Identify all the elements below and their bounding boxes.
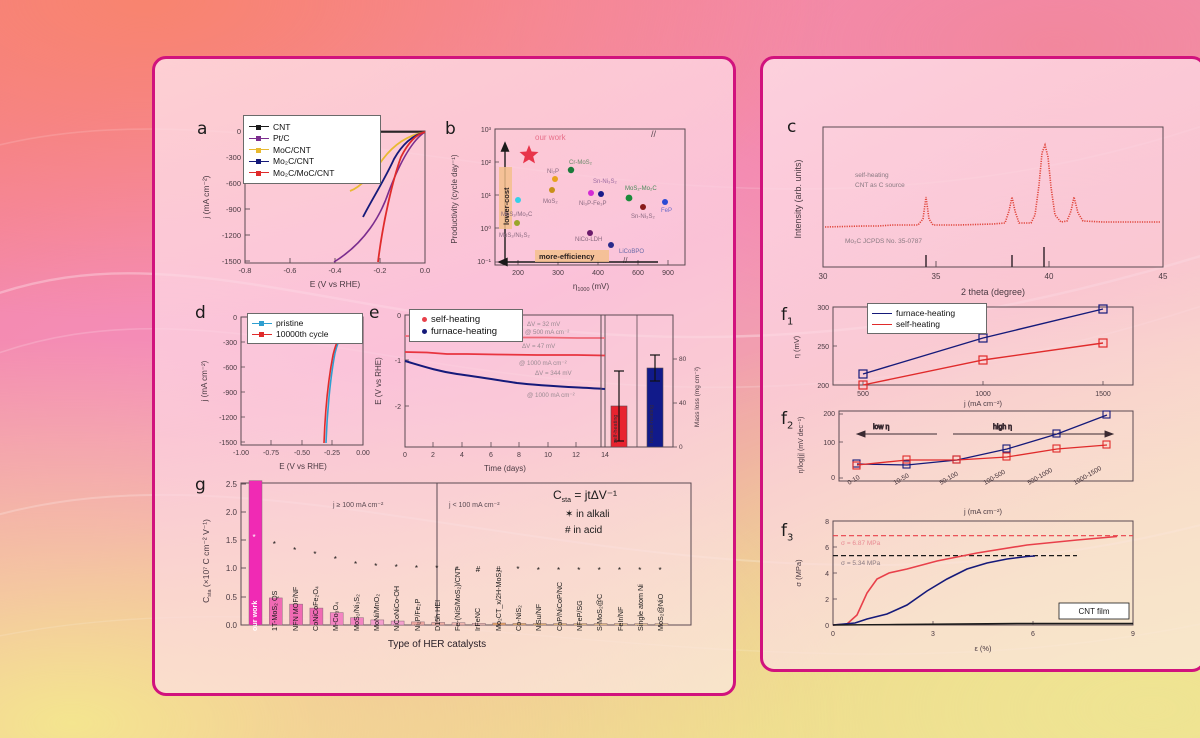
svg-text:0.0: 0.0 — [420, 266, 430, 275]
svg-text:Productivity (cycle day⁻¹): Productivity (cycle day⁻¹) — [450, 154, 459, 243]
legend-swatch-furnace — [872, 313, 892, 314]
panel-f3-label: f3 — [781, 521, 793, 543]
panel-a: a 0 -300 -600 -900 -1200 -1500 — [193, 117, 433, 307]
legend-swatch-mo2cmoc — [249, 172, 269, 173]
svg-text:2 theta (degree): 2 theta (degree) — [961, 287, 1025, 297]
svg-text:0: 0 — [679, 444, 683, 451]
legend-label: Mo₂C/MoC/CNT — [273, 168, 334, 178]
svg-text:MoS₂/Ni₃S₂: MoS₂/Ni₃S₂ — [499, 233, 530, 239]
svg-text:-1.00: -1.00 — [233, 450, 249, 457]
svg-text:E (V vs RHE): E (V vs RHE) — [279, 462, 327, 471]
panel-f1-label: f1 — [781, 305, 793, 327]
svg-text:j (mA cm⁻²): j (mA cm⁻²) — [200, 360, 209, 402]
panel-f3: f3 8 6 4 2 0 0 3 6 9 — [777, 511, 1187, 656]
panel-g-bar-mark: * — [313, 550, 316, 559]
panel-g-bar-label: NFeP/SG — [575, 600, 584, 631]
svg-text:2: 2 — [825, 597, 829, 604]
legend-label: self-heating — [896, 319, 940, 329]
svg-text:10: 10 — [544, 452, 552, 459]
svg-text:30: 30 — [819, 272, 828, 281]
legend-item: furnace-heating — [415, 326, 517, 337]
panel-g-bar-mark: * — [253, 533, 256, 542]
svg-text:σ (MPa): σ (MPa) — [794, 559, 803, 587]
panel-e-bar-chart: 04080 Mass loss (mg cm⁻²) self-heating f… — [595, 297, 705, 487]
panel-g-bar-mark: * — [273, 540, 276, 549]
svg-text:MoS₂/Mo₂C: MoS₂/Mo₂C — [501, 212, 533, 218]
svg-text:900: 900 — [662, 270, 674, 277]
svg-text:Sn-Ni₃S₂: Sn-Ni₃S₂ — [631, 214, 655, 220]
legend-label: furnace-heating — [431, 326, 497, 337]
legend-label: furnace-heating — [896, 308, 955, 318]
legend-swatch-cnt — [249, 126, 269, 127]
legend-label: CNT — [273, 122, 290, 132]
svg-text:-0.6: -0.6 — [284, 266, 297, 275]
svg-text:-0.50: -0.50 — [294, 450, 310, 457]
svg-text:-1500: -1500 — [222, 257, 241, 266]
legend-item: self-heating — [415, 314, 517, 325]
svg-text:6: 6 — [825, 545, 829, 552]
svg-text:η1000 (mV): η1000 (mV) — [573, 282, 610, 293]
svg-text:200: 200 — [512, 270, 524, 277]
panel-g-bar-label: Ni₂P/Fe₂P — [413, 599, 422, 631]
legend-item: Mo₂C/CNT — [249, 156, 375, 166]
svg-text:NiCo-LDH: NiCo-LDH — [575, 237, 602, 243]
panel-g-bar-mark: * — [354, 560, 357, 569]
panel-g-bar-label: NiCoNiCo-OH — [392, 586, 401, 631]
svg-text:10³: 10³ — [481, 127, 492, 134]
panel-g-bar-mark: * — [598, 566, 601, 575]
panel-f2-label: f2 — [781, 409, 793, 431]
panel-d: d 0 -300 -600 -900 -1200 -1500 -1.00 — [193, 297, 373, 487]
bar-label-self-heating: self-heating — [613, 415, 619, 443]
legend-item: Pt/C — [249, 133, 375, 143]
svg-text:@ 500 mA cm⁻²: @ 500 mA cm⁻² — [525, 329, 569, 336]
svg-text:@ 1000 mA cm⁻²: @ 1000 mA cm⁻² — [519, 360, 567, 367]
panel-g: g 0.0 0.5 1.0 1.5 2.0 2.5 Csta (×10⁷ C c… — [193, 471, 713, 681]
svg-text:-600: -600 — [226, 179, 241, 188]
panel-f2: f2 200 100 0 η/log|j| (mV dec⁻¹) j (mA c… — [777, 401, 1187, 516]
panel-b-label: b — [445, 119, 456, 139]
svg-text:200: 200 — [817, 383, 829, 390]
svg-text:2: 2 — [431, 452, 435, 459]
panel-g-bar-mark: * — [659, 566, 662, 575]
svg-text:FeP: FeP — [661, 208, 672, 214]
svg-text://: // — [651, 129, 657, 139]
svg-text:6: 6 — [1031, 631, 1035, 638]
svg-text:E (V vs RHE): E (V vs RHE) — [310, 279, 361, 289]
svg-text://: // — [623, 256, 628, 265]
panel-e-label: e — [369, 303, 379, 323]
panel-g-bar-mark: * — [577, 566, 580, 575]
panel-e-legend: self-heating furnace-heating — [409, 309, 523, 342]
svg-text:0: 0 — [831, 475, 835, 482]
panel-g-bar-mark: * — [334, 555, 337, 564]
svg-text:Cr-MoS₂: Cr-MoS₂ — [569, 160, 593, 166]
poster-panel-left: a 0 -300 -600 -900 -1200 -1500 — [152, 56, 736, 696]
panel-b-more-efficiency-annotation: more-efficiency — [539, 252, 595, 261]
panel-c: c 30 35 40 45 2 theta (degree) Intensity… — [783, 115, 1183, 305]
panel-g-bar-label: FeIr/NF — [616, 607, 625, 631]
panel-b-lower-cost-annotation: lower-cost — [502, 187, 511, 225]
svg-text:10²: 10² — [481, 160, 492, 167]
legend-dot-furnace-heating — [422, 329, 427, 334]
legend-item: CNT — [249, 122, 375, 132]
panel-g-bar-mark: * — [374, 562, 377, 571]
svg-text:40: 40 — [679, 400, 687, 407]
svg-text:low η: low η — [873, 424, 889, 431]
svg-text:MoS₂: MoS₂ — [543, 199, 558, 205]
panel-b-our-work-label: our work — [535, 133, 567, 142]
legend-swatch-ptc — [249, 138, 269, 139]
svg-text:η/log|j| (mV dec⁻¹): η/log|j| (mV dec⁻¹) — [798, 417, 805, 474]
svg-text:45: 45 — [1159, 272, 1168, 281]
panel-g-bar-mark: * — [537, 566, 540, 575]
svg-text:6: 6 — [489, 452, 493, 459]
panel-g-bar-label: CoNiCoFe₂O₄ — [311, 586, 320, 631]
svg-text:ΔV = 344 mV: ΔV = 344 mV — [535, 370, 573, 377]
panel-c-annotation-line2: CNT as C source — [855, 182, 905, 189]
svg-text:300: 300 — [817, 305, 829, 312]
legend-swatch-pristine — [252, 323, 272, 324]
legend-dot-self-heating — [422, 317, 427, 322]
svg-text:35: 35 — [932, 272, 941, 281]
panel-g-bar-label: NiSu/NF — [534, 604, 543, 631]
svg-text:-1: -1 — [395, 358, 401, 365]
svg-text:300: 300 — [552, 270, 564, 277]
svg-text:12: 12 — [572, 452, 580, 459]
svg-text:Ni₃P-Fe₃P: Ni₃P-Fe₃P — [579, 201, 607, 207]
svg-text:250: 250 — [817, 344, 829, 351]
legend-item: 10000th cycle — [252, 329, 358, 339]
panel-g-bar-label: M-Co₃O₄ — [331, 602, 340, 631]
svg-text:E (V vs RHE): E (V vs RHE) — [374, 357, 383, 405]
svg-text:-0.2: -0.2 — [374, 266, 387, 275]
legend-item: self-heating — [872, 319, 982, 329]
panel-g-bar-labels: our work*1T-MoS₂ QS*NFN MOF/NF*CoNiCoFe₂… — [193, 471, 713, 681]
svg-text:MoS₂-Mo₂C: MoS₂-Mo₂C — [625, 186, 657, 192]
panel-g-bar-mark: * — [395, 563, 398, 572]
svg-text:LiCoBPO: LiCoBPO — [619, 249, 644, 255]
legend-label: self-heating — [431, 314, 480, 325]
legend-label: Pt/C — [273, 133, 290, 143]
legend-swatch-mo2c — [249, 161, 269, 162]
panel-g-bar-mark: * — [415, 564, 418, 573]
svg-text:4: 4 — [460, 452, 464, 459]
svg-text:8: 8 — [517, 452, 521, 459]
svg-text:ΔV = 32 mV: ΔV = 32 mV — [527, 321, 561, 328]
panel-f1: f1 300 250 200 500 1000 1500 j (mA cm⁻²)… — [777, 299, 1187, 407]
panel-f3-annotation-red: σ = 6.87 MPa — [841, 540, 881, 547]
svg-text:0: 0 — [237, 127, 241, 136]
panel-a-label: a — [197, 119, 207, 139]
panel-g-bar-mark: * — [456, 565, 459, 574]
svg-text:ΔV = 47 mV: ΔV = 47 mV — [522, 343, 556, 350]
panel-a-legend: CNT Pt/C MoC/CNT Mo₂C/CNT Mo₂C/MoC/CNT — [243, 115, 381, 184]
panel-g-bar-label: CoP/NiCoP/NC — [555, 582, 564, 631]
svg-text:-0.75: -0.75 — [263, 450, 279, 457]
legend-swatch-10000th — [252, 334, 272, 335]
svg-text:-1200: -1200 — [219, 415, 237, 422]
legend-label: MoC/CNT — [273, 145, 311, 155]
svg-text:10¹: 10¹ — [481, 193, 492, 200]
legend-item: Mo₂C/MoC/CNT — [249, 168, 375, 178]
panel-g-bar-label: our work — [250, 601, 259, 631]
panel-g-bar-mark: # — [476, 565, 480, 574]
panel-g-bar-label: Mo₂CT_x/2H-MoS₂ — [494, 570, 503, 631]
panel-g-bar-label: D15h HEI — [433, 600, 442, 631]
svg-text:-900: -900 — [223, 390, 237, 397]
panel-g-bar-label: S-MoS₂@C — [595, 594, 604, 631]
legend-item: pristine — [252, 318, 358, 328]
svg-text:10⁻¹: 10⁻¹ — [477, 259, 491, 266]
svg-text:4: 4 — [825, 571, 829, 578]
svg-text:500: 500 — [857, 391, 869, 398]
panel-b: b 10³ 10² 10¹ 10⁰ 10⁻¹ 200 300 — [443, 117, 703, 307]
svg-text:-2: -2 — [395, 404, 401, 411]
panel-c-label: c — [787, 117, 796, 137]
legend-label: Mo₂C/CNT — [273, 156, 314, 166]
svg-text:Intensity (arb. units): Intensity (arb. units) — [793, 159, 803, 238]
panel-g-bar-mark: * — [557, 566, 560, 575]
panel-e: e 0 -1 -2 02 46 810 1214 Time ( — [367, 297, 617, 487]
svg-text:η (mV): η (mV) — [792, 335, 801, 358]
panel-g-bar-mark: * — [293, 546, 296, 555]
svg-text:0: 0 — [397, 313, 401, 320]
svg-text:400: 400 — [592, 270, 604, 277]
panel-g-bar-mark: # — [496, 565, 500, 574]
svg-text:80: 80 — [679, 356, 687, 363]
svg-text:-1500: -1500 — [219, 440, 237, 447]
svg-text:8: 8 — [825, 519, 829, 526]
svg-text:40: 40 — [1045, 272, 1054, 281]
svg-text:-300: -300 — [226, 153, 241, 162]
panel-g-bar-mark: * — [618, 566, 621, 575]
panel-g-bar-label: Single atom Ni — [636, 584, 645, 631]
panel-g-bar-label: NFN MOF/NF — [291, 587, 300, 631]
panel-g-bar-mark: * — [638, 566, 641, 575]
svg-text:-0.8: -0.8 — [239, 266, 252, 275]
svg-text:0: 0 — [825, 623, 829, 630]
panel-g-bar-label: MoNi/MnO₂ — [372, 594, 381, 631]
svg-text:200: 200 — [823, 411, 835, 418]
svg-text:j (mA cm⁻²): j (mA cm⁻²) — [201, 175, 211, 219]
svg-text:-600: -600 — [223, 365, 237, 372]
svg-text:@ 1000 mA cm⁻²: @ 1000 mA cm⁻² — [527, 392, 575, 399]
svg-text:100: 100 — [823, 440, 835, 447]
svg-text:high η: high η — [993, 424, 1012, 431]
panel-g-bar-label: IrFeNC — [473, 608, 482, 631]
svg-text:Mass loss (mg cm⁻²): Mass loss (mg cm⁻²) — [694, 367, 701, 427]
legend-label: pristine — [276, 318, 303, 328]
legend-swatch-moc — [249, 149, 269, 150]
svg-text:Sn-Ni₃S₂: Sn-Ni₃S₂ — [593, 179, 617, 185]
panel-f1-legend: furnace-heating self-heating — [867, 303, 987, 334]
panel-c-annotation-jcpds: Mo₂C JCPDS No. 35-0787 — [845, 238, 922, 245]
svg-text:600: 600 — [632, 270, 644, 277]
svg-text:1000: 1000 — [975, 391, 991, 398]
bar-label-furnace-heating: furnace-heating — [649, 405, 655, 443]
panel-g-bar-label: Co-NiS₂ — [514, 605, 523, 631]
panel-g-bar-label: MoS₂/Ni₃S₂ — [352, 594, 361, 631]
panel-g-bar-label: Fe-(NiS/MoS₂)/CNT — [453, 568, 462, 631]
legend-label: 10000th cycle — [276, 329, 328, 339]
svg-text:-300: -300 — [223, 340, 237, 347]
panel-f3-annotation-black: σ = 5.34 MPa — [841, 560, 881, 567]
svg-text:-0.25: -0.25 — [324, 450, 340, 457]
legend-item: furnace-heating — [872, 308, 982, 318]
panel-g-bar-label: 1T-MoS₂ QS — [270, 591, 279, 631]
poster-panel-right: c 30 35 40 45 2 theta (degree) Intensity… — [760, 56, 1200, 672]
svg-text:0: 0 — [831, 631, 835, 638]
svg-text:9: 9 — [1131, 631, 1135, 638]
svg-text:1500: 1500 — [1095, 391, 1111, 398]
panel-d-label: d — [195, 303, 206, 323]
panel-g-bar-mark: * — [435, 564, 438, 573]
svg-text:ε (%): ε (%) — [974, 644, 992, 653]
svg-text:-900: -900 — [226, 205, 241, 214]
svg-text:0: 0 — [233, 315, 237, 322]
svg-text:10⁰: 10⁰ — [480, 225, 491, 233]
svg-text:-0.4: -0.4 — [329, 266, 342, 275]
panel-g-bar-label: MoS₂@NiO — [656, 594, 665, 631]
panel-f3-cnt-film-label: CNT film — [1079, 607, 1110, 616]
svg-text:-1200: -1200 — [222, 231, 241, 240]
legend-swatch-self — [872, 324, 892, 325]
legend-item: MoC/CNT — [249, 145, 375, 155]
panel-d-legend: pristine 10000th cycle — [247, 313, 363, 344]
svg-text:0: 0 — [403, 452, 407, 459]
svg-text:3: 3 — [931, 631, 935, 638]
panel-c-annotation-line1: self-heating — [855, 172, 889, 179]
panel-g-bar-mark: * — [516, 565, 519, 574]
svg-text:Ni₂P: Ni₂P — [547, 169, 559, 175]
